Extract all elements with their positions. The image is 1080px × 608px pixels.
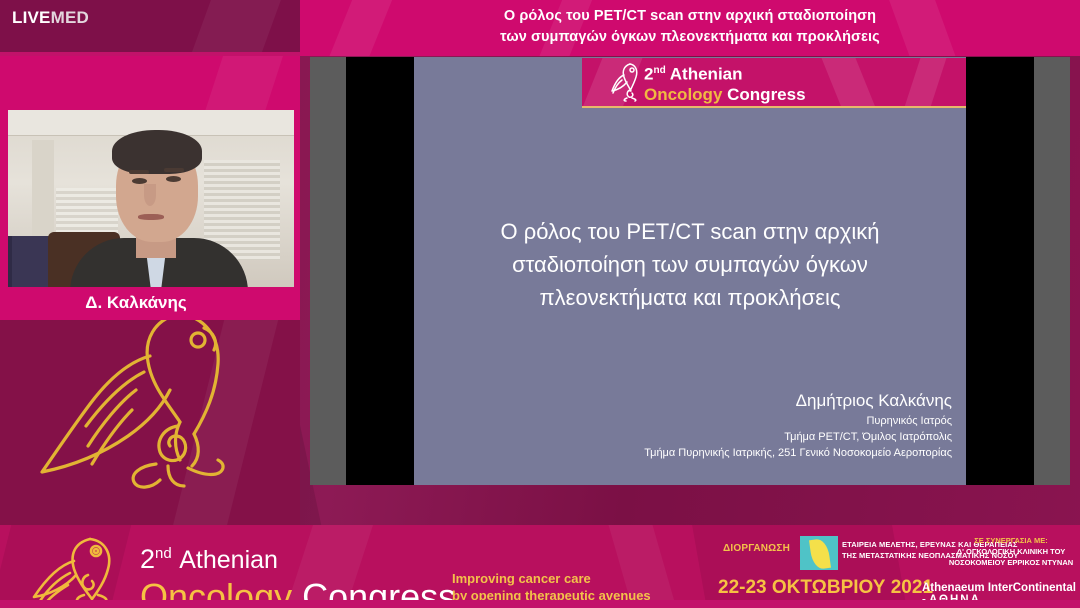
cooperation-label: ΣΕ ΣΥΝΕΡΓΑΣΙΑ ΜΕ: (942, 535, 1080, 546)
cooperation-block: ΣΕ ΣΥΝΕΡΓΑΣΙΑ ΜΕ: Δ' ΟΓΚΟΛΟΓΙΚΗ ΚΛΙΝΙΚΗ … (942, 535, 1080, 568)
footer-tagline-line-1: Improving cancer care (452, 570, 651, 587)
webcam-nose (144, 184, 156, 206)
footer-tagline: Improving cancer care by opening therape… (452, 570, 651, 604)
footer-wordmark: 2nd Athenian Oncology Congress (140, 537, 456, 608)
slide-title-line-1: Ο ρόλος του PET/CT scan στην αρχική (434, 215, 946, 248)
slide-author-name: Δημήτριος Καλκάνης (414, 389, 952, 413)
footer-sup: nd (155, 545, 172, 562)
talk-title-line-1: Ο ρόλος του PET/CT scan στην αρχική σταδ… (300, 6, 1080, 27)
slide-author-affiliation-2: Τμήμα Πυρηνικής Ιατρικής, 251 Γενικό Νοσ… (414, 445, 952, 461)
talk-title-line-2: των συμπαγών όγκων πλεονεκτήματα και προ… (300, 27, 1080, 48)
cooperation-line-2: ΝΟΣΟΚΟΜΕΙΟΥ ΕΡΡΙΚΟΣ ΝΤΥΝΑΝ (942, 557, 1080, 568)
slide-congress-oncology: Oncology (644, 85, 722, 104)
footer-line-1: 2nd Athenian (140, 537, 456, 577)
slide-congress-congress: Congress (727, 85, 805, 104)
footer-bottom-rule (0, 600, 1080, 608)
owl-watermark-panel (0, 320, 300, 525)
top-bar: LIVEMED Ο ρόλος του PET/CT scan στην αρχ… (0, 0, 1080, 56)
slide-header-facet-2 (816, 58, 882, 106)
organizer-logo-leaf (809, 538, 831, 570)
slide-title-line-2: σταδιοποίηση των συμπαγών όγκων (434, 248, 946, 281)
slide-congress-header: 2nd Athenian Oncology Congress (582, 58, 966, 106)
footer-organizers: ΔΙΟΡΓΑΝΩΣΗ ΕΤΑΙΡΕΙΑ ΜΕΛΕΤΗΣ, ΕΡΕΥΝΑΣ ΚΑΙ… (710, 525, 1080, 608)
slide-author-affiliation-1: Τμήμα PET/CT, Όμιλος Ιατρόπολις (414, 429, 952, 445)
slide-congress-athenian: Athenian (670, 65, 743, 84)
slide-author-block: Δημήτριος Καλκάνης Πυρηνικός Ιατρός Τμήμ… (414, 389, 952, 461)
owl-watermark-icon (28, 320, 278, 506)
footer-owl-icon (28, 535, 128, 607)
speaker-webcam[interactable] (8, 110, 294, 292)
livemed-logo-med: MED (51, 8, 89, 27)
slide-title: Ο ρόλος του PET/CT scan στην αρχική σταδ… (434, 215, 946, 314)
top-bar-facet-1 (185, 0, 284, 56)
slide-header-facet-3 (899, 58, 951, 106)
livemed-logo: LIVEMED (12, 9, 89, 26)
footer-athenian: Athenian (179, 546, 278, 574)
slide-video-frame[interactable]: 2nd Athenian Oncology Congress Ο ρόλος τ… (310, 57, 1070, 485)
webcam-mouth (138, 214, 164, 220)
webcam-brow-right (164, 168, 184, 172)
congress-date: 22-23 ΟΚΤΩΒΡΙΟΥ 2021 (718, 577, 933, 599)
footer-num: 2 (140, 544, 155, 574)
presentation-slide: 2nd Athenian Oncology Congress Ο ρόλος τ… (414, 57, 966, 485)
pillarbox-right (1034, 57, 1070, 485)
speaker-name-bar: Δ. Καλκάνης (0, 287, 300, 320)
webcam-brow-left (129, 170, 149, 174)
speaker-name: Δ. Καλκάνης (0, 293, 272, 313)
talk-title-bar: Ο ρόλος του PET/CT scan στην αρχική σταδ… (300, 0, 1080, 56)
letterbox-left (346, 57, 414, 485)
letterbox-right (966, 57, 1034, 485)
pillarbox-left (310, 57, 346, 485)
webcam-eye-right (166, 176, 181, 182)
slide-congress-wordmark: 2nd Athenian Oncology Congress (644, 61, 806, 105)
cooperation-line-1: Δ' ΟΓΚΟΛΟΓΙΚΗ ΚΛΙΝΙΚΗ ΤΟΥ (942, 546, 1080, 557)
slide-owl-icon (610, 62, 640, 102)
slide-congress-sup: nd (653, 65, 665, 76)
slide-congress-line2: Oncology Congress (644, 85, 806, 105)
talk-title: Ο ρόλος του PET/CT scan στην αρχική σταδ… (300, 6, 1080, 48)
slide-author-role: Πυρηνικός Ιατρός (414, 413, 952, 429)
webcam-hair (112, 130, 202, 174)
organizer-logo-icon (800, 536, 838, 570)
livestream-viewer: LIVEMED Ο ρόλος του PET/CT scan στην αρχ… (0, 0, 1080, 608)
slide-header-gold-rule (582, 106, 966, 108)
organizer-label: ΔΙΟΡΓΑΝΩΣΗ (723, 543, 790, 554)
slide-congress-line1: 2nd Athenian (644, 61, 806, 85)
slide-title-line-3: πλεονεκτήματα και προκλήσεις (434, 281, 946, 314)
livemed-logo-live: LIVE (12, 8, 51, 27)
